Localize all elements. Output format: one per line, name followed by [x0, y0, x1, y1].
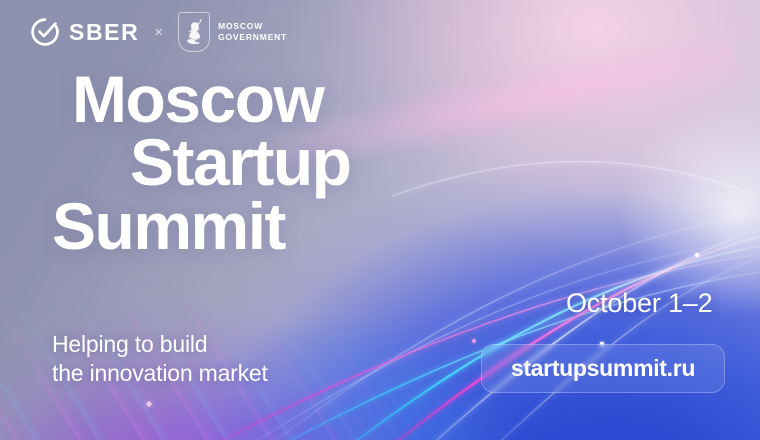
sber-wordmark: SBER	[69, 21, 139, 44]
event-title-line-1: Moscow	[0, 68, 480, 131]
event-title: Moscow Startup Summit	[0, 68, 480, 258]
moscow-crest-shield	[178, 12, 210, 52]
moscow-wordmark-line2: GOVERNMENT	[218, 32, 287, 43]
event-title-line-2: Startup	[0, 131, 480, 194]
event-date: October 1–2	[566, 290, 712, 317]
moscow-coat-of-arms-icon	[182, 16, 206, 48]
event-title-line-3: Summit	[0, 195, 480, 258]
moscow-wordmark-line1: MOSCOW	[218, 21, 287, 32]
moscow-government-logo[interactable]: MOSCOW GOVERNMENT	[178, 12, 287, 52]
event-promo-banner: SBER ×	[0, 0, 760, 440]
sber-checkmark-circle-icon	[30, 17, 60, 47]
partner-cross-icon: ×	[153, 25, 164, 40]
partner-logo-lockup: SBER ×	[30, 12, 287, 52]
event-tagline-line-1: Helping to build	[52, 330, 268, 359]
event-tagline-line-2: the innovation market	[52, 359, 268, 388]
event-tagline: Helping to build the innovation market	[52, 330, 268, 389]
moscow-government-wordmark: MOSCOW GOVERNMENT	[218, 21, 287, 44]
sber-logo[interactable]: SBER	[30, 17, 139, 47]
event-website-button[interactable]: startupsummit.ru	[481, 344, 725, 393]
